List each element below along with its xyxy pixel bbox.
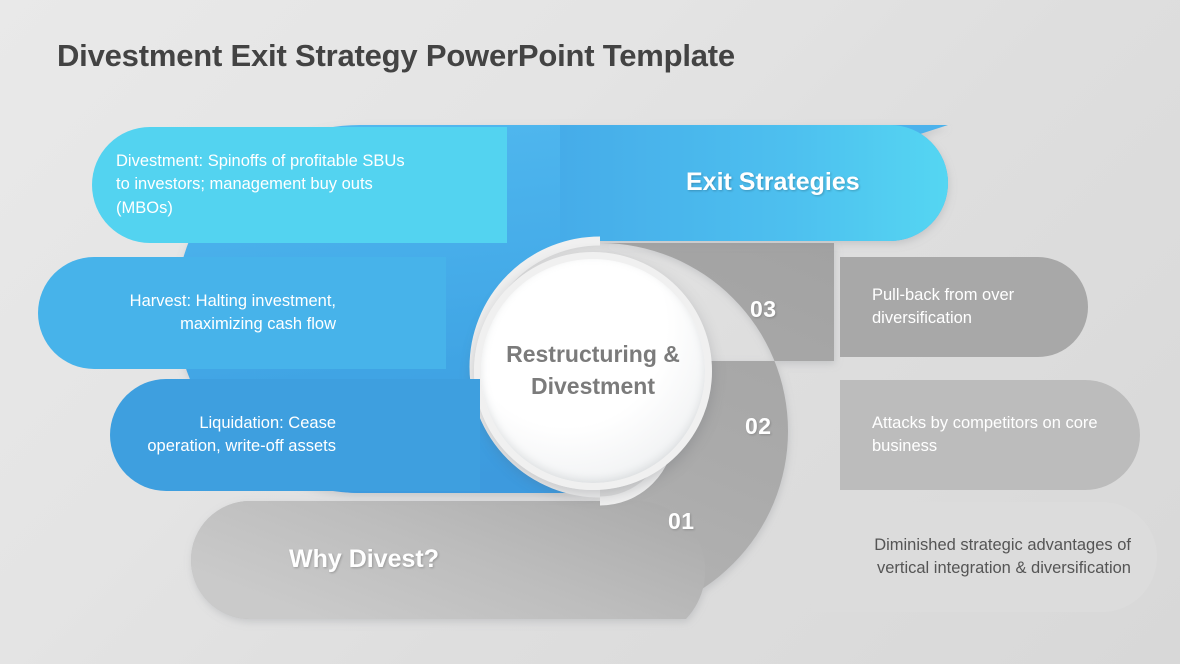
exit-strategy-item-harvest[interactable]: Harvest: Halting investment, maximizing … bbox=[38, 257, 446, 369]
step-number-why-03: 03 bbox=[750, 296, 777, 323]
why-divest-header: Why Divest? bbox=[289, 545, 439, 574]
gray-bottom-bar-path bbox=[191, 501, 705, 619]
why-divest-item-pullback[interactable]: Pull-back from over diversification bbox=[840, 257, 1088, 357]
why-divest-item-diminished[interactable]: Diminished strategic advantages of verti… bbox=[812, 502, 1157, 612]
why-divest-item-diminished-text: Diminished strategic advantages of verti… bbox=[836, 534, 1131, 581]
exit-strategy-item-liquidation-text: Liquidation: Cease operation, write-off … bbox=[134, 412, 336, 459]
center-circle: Restructuring & Divestment bbox=[474, 252, 712, 490]
exit-strategy-item-divestment-text: Divestment: Spinoffs of profitable SBUs … bbox=[116, 150, 407, 220]
exit-strategy-item-divestment[interactable]: Divestment: Spinoffs of profitable SBUs … bbox=[92, 127, 507, 243]
slide-canvas: Divestment Exit Strategy PowerPoint Temp… bbox=[0, 0, 1180, 664]
step-number-why-02: 02 bbox=[745, 413, 772, 440]
exit-strategy-item-liquidation[interactable]: Liquidation: Cease operation, write-off … bbox=[110, 379, 480, 491]
why-divest-item-attacks-text: Attacks by competitors on core business bbox=[872, 412, 1118, 459]
why-divest-item-pullback-text: Pull-back from over diversification bbox=[872, 284, 1066, 331]
exit-strategies-header: Exit Strategies bbox=[686, 168, 860, 197]
step-number-why-01: 01 bbox=[668, 508, 695, 535]
center-circle-label: Restructuring & Divestment bbox=[481, 339, 705, 402]
why-divest-item-attacks[interactable]: Attacks by competitors on core business bbox=[840, 380, 1140, 490]
exit-strategy-item-harvest-text: Harvest: Halting investment, maximizing … bbox=[62, 290, 336, 337]
